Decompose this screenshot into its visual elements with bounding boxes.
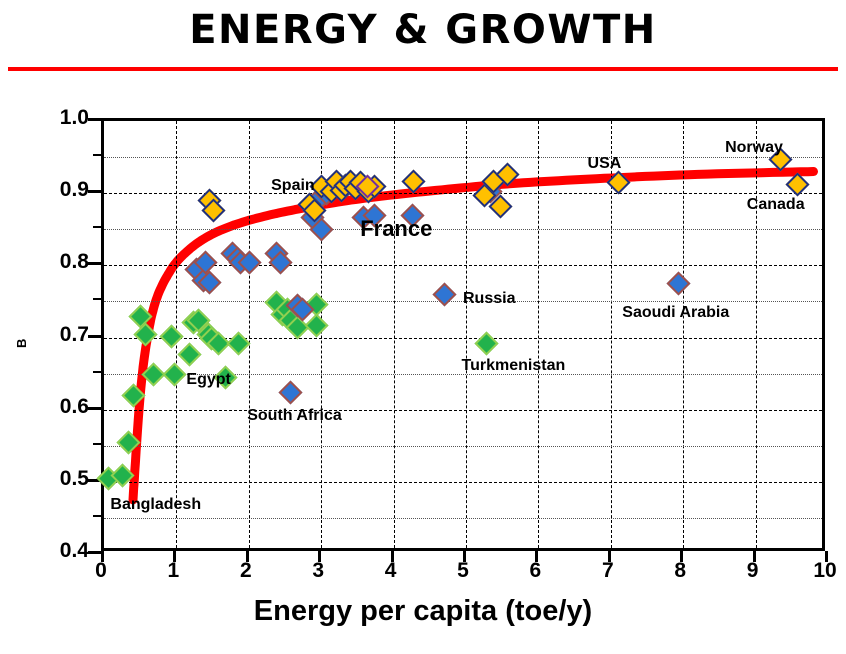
gridline-vertical <box>466 121 467 548</box>
page-title: ENERGY & GROWTH <box>0 4 846 56</box>
point-label: Russia <box>463 290 515 308</box>
x-axis-tick-label: 3 <box>298 559 338 583</box>
x-axis-tick-mark <box>101 551 104 562</box>
y-axis-tick-label: 0.5 <box>33 467 89 491</box>
gridline-horizontal <box>104 482 822 483</box>
x-axis-tick-label: 0 <box>81 559 121 583</box>
x-axis-tick-mark <box>173 551 176 562</box>
x-axis-label: Energy per capita (toe/y) <box>0 595 846 628</box>
point-label: Norway <box>725 139 783 157</box>
x-axis-tick-label: 8 <box>660 559 700 583</box>
point-label: Bangladesh <box>110 496 201 514</box>
y-axis-label: B <box>14 339 29 348</box>
x-axis-tick-mark <box>608 551 611 562</box>
gridline-horizontal-minor <box>104 229 822 230</box>
point-label: France <box>360 216 432 242</box>
y-axis-tick-mark-minor <box>93 298 101 300</box>
y-axis-tick-mark <box>88 551 101 554</box>
gridline-horizontal <box>104 410 822 411</box>
y-axis-tick-mark <box>88 262 101 265</box>
gridline-horizontal-minor <box>104 446 822 447</box>
x-axis-tick-mark <box>246 551 249 562</box>
y-axis-tick-mark <box>88 335 101 338</box>
point-label: Saoudi Arabia <box>622 304 729 322</box>
x-axis-tick-label: 7 <box>588 559 628 583</box>
title-divider <box>8 67 838 71</box>
point-label: Turkmenistan <box>462 357 566 375</box>
x-axis-tick-label: 2 <box>226 559 266 583</box>
scatter-chart: B 0.40.50.60.70.80.91.0012345678910 Bang… <box>0 95 846 654</box>
gridline-horizontal-minor <box>104 518 822 519</box>
y-axis-tick-mark <box>88 407 101 410</box>
y-axis-tick-mark-minor <box>93 154 101 156</box>
point-label: South Africa <box>247 407 342 425</box>
x-axis-tick-label: 9 <box>733 559 773 583</box>
x-axis-tick-mark <box>463 551 466 562</box>
y-axis-tick-label: 1.0 <box>33 106 89 130</box>
x-axis-tick-label: 10 <box>805 559 845 583</box>
gridline-vertical <box>249 121 250 548</box>
point-label: Egypt <box>186 371 230 389</box>
x-axis-tick-mark <box>318 551 321 562</box>
y-axis-tick-mark-minor <box>93 371 101 373</box>
x-axis-tick-mark <box>535 551 538 562</box>
gridline-vertical <box>756 121 757 548</box>
x-axis-tick-mark <box>753 551 756 562</box>
y-axis-tick-label: 0.7 <box>33 323 89 347</box>
y-axis-tick-label: 0.9 <box>33 178 89 202</box>
y-axis-tick-label: 0.8 <box>33 250 89 274</box>
gridline-vertical <box>394 121 395 548</box>
x-axis-tick-label: 5 <box>443 559 483 583</box>
point-label: Spain <box>271 177 315 195</box>
x-axis-tick-mark <box>680 551 683 562</box>
gridline-vertical <box>683 121 684 548</box>
x-axis-tick-label: 6 <box>515 559 555 583</box>
y-axis-tick-mark-minor <box>93 443 101 445</box>
y-axis-tick-mark-minor <box>93 226 101 228</box>
gridline-vertical <box>538 121 539 548</box>
x-axis-tick-mark <box>391 551 394 562</box>
x-axis-tick-mark <box>825 551 828 562</box>
y-axis-tick-mark <box>88 190 101 193</box>
gridline-horizontal-minor <box>104 157 822 158</box>
x-axis-tick-label: 1 <box>153 559 193 583</box>
point-label: Canada <box>747 196 805 214</box>
x-axis-tick-label: 4 <box>371 559 411 583</box>
y-axis-tick-mark <box>88 118 101 121</box>
point-label: USA <box>588 155 622 173</box>
y-axis-tick-mark-minor <box>93 515 101 517</box>
y-axis-tick-label: 0.6 <box>33 395 89 419</box>
